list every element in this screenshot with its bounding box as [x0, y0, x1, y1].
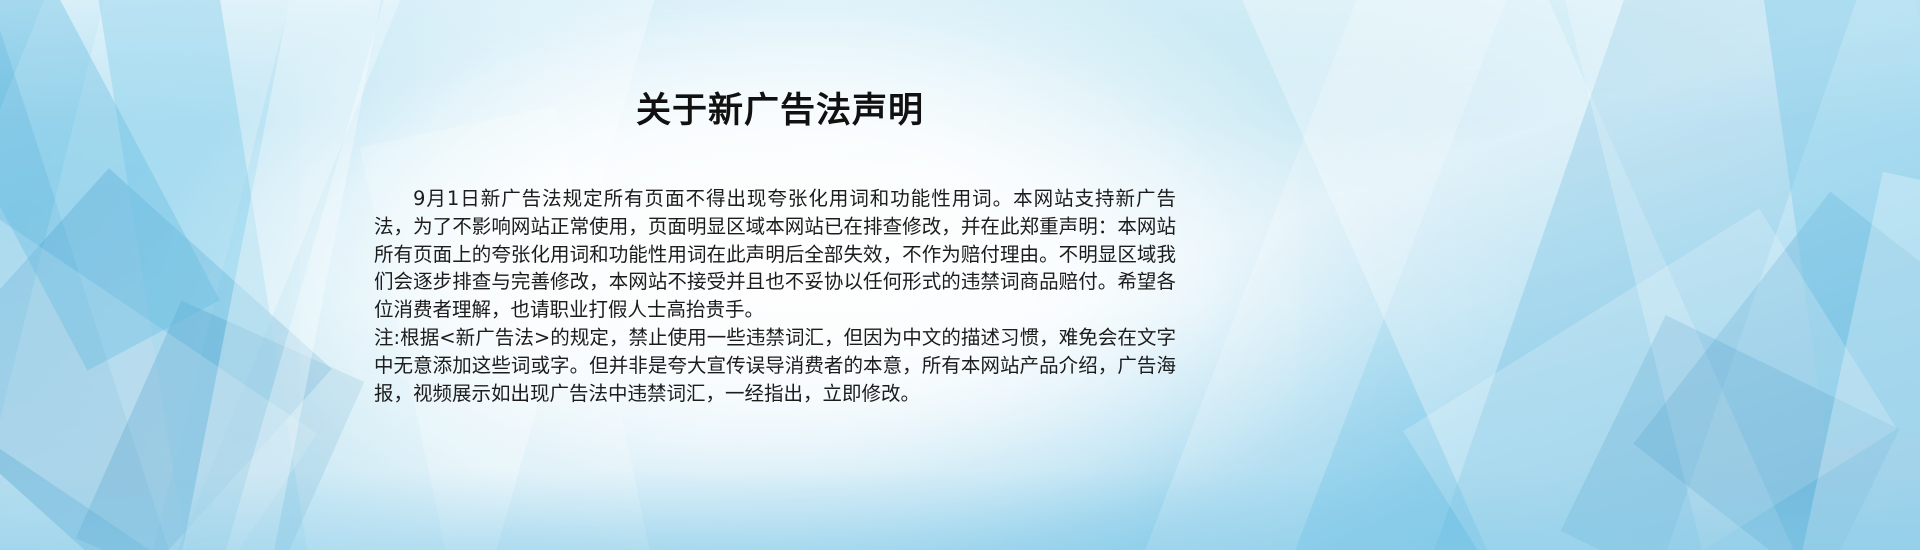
- page-root: 关于新广告法声明 9月1日新广告法规定所有页面不得出现夸张化用词和功能性用词。本…: [0, 0, 1920, 550]
- page-title: 关于新广告法声明: [360, 88, 1200, 134]
- statement-content: 关于新广告法声明 9月1日新广告法规定所有页面不得出现夸张化用词和功能性用词。本…: [0, 0, 1920, 550]
- statement-paragraph-note: 注:根据<新广告法>的规定，禁止使用一些违禁词汇，但因为中文的描述习惯，难免会在…: [374, 324, 1176, 407]
- statement-paragraph-main: 9月1日新广告法规定所有页面不得出现夸张化用词和功能性用词。本网站支持新广告法，…: [374, 185, 1176, 324]
- statement-body: 9月1日新广告法规定所有页面不得出现夸张化用词和功能性用词。本网站支持新广告法，…: [374, 185, 1176, 407]
